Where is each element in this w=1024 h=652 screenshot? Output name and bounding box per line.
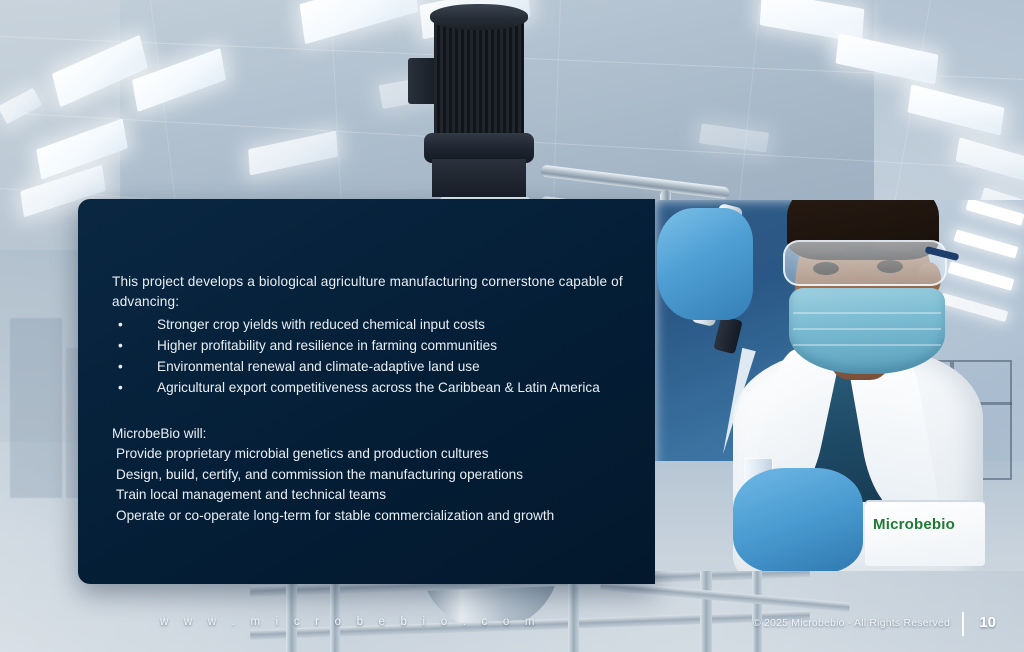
lab-coat-pocket	[865, 500, 985, 566]
gloved-hand-lower	[733, 468, 863, 571]
motor-housing	[434, 18, 524, 138]
pipe	[540, 164, 730, 199]
slide-canvas: This project develops a biological agric…	[0, 0, 1024, 652]
bullet-icon: •	[118, 377, 123, 398]
mask-pleat	[793, 312, 941, 314]
content-panel-body: This project develops a biological agric…	[112, 272, 652, 526]
footer-divider	[962, 612, 964, 636]
support-beam	[600, 581, 850, 612]
mask-pleat	[793, 328, 941, 330]
benefits-bullet-list: • Stronger crop yields with reduced chem…	[112, 314, 652, 398]
copyright-text: © 2025 Microbebio - All Rights Reserved	[753, 617, 950, 629]
list-item: • Agricultural export competitiveness ac…	[112, 377, 652, 398]
list-item-label: Agricultural export competitiveness acro…	[157, 380, 600, 395]
motor-collar-lower	[432, 159, 526, 197]
list-item-label: Environmental renewal and climate-adapti…	[157, 359, 480, 374]
list-item: • Higher profitability and resilience in…	[112, 335, 652, 356]
photo-ceiling-light	[948, 261, 1015, 291]
photo-ceiling-light	[954, 229, 1019, 258]
list-item: Operate or co-operate long-term for stab…	[112, 506, 652, 527]
photo-ceiling-light	[965, 200, 1024, 226]
list-item: Train local management and technical tea…	[112, 485, 652, 506]
background-equipment-silhouette	[10, 318, 62, 498]
mask-pleat	[793, 344, 941, 346]
list-item: • Stronger crop yields with reduced chem…	[112, 314, 652, 335]
commitments-heading: MicrobeBio will:	[112, 424, 652, 444]
bullet-icon: •	[118, 314, 123, 335]
bullet-icon: •	[118, 335, 123, 356]
list-item: Design, build, certify, and commission t…	[112, 465, 652, 486]
page-number: 10	[979, 614, 996, 631]
support-post	[752, 560, 762, 652]
face-mask	[789, 288, 945, 374]
list-item-label: Stronger crop yields with reduced chemic…	[157, 317, 485, 332]
list-item-label: Higher profitability and resilience in f…	[157, 338, 497, 353]
lab-coat-logo: Microbebio	[873, 516, 983, 533]
photo-ceiling-light	[940, 293, 1008, 322]
intro-paragraph: This project develops a biological agric…	[112, 272, 652, 312]
safety-goggles	[783, 240, 947, 286]
list-item: • Environmental renewal and climate-adap…	[112, 356, 652, 377]
list-item: Provide proprietary microbial genetics a…	[112, 444, 652, 465]
motor-cap	[430, 4, 528, 30]
bullet-icon: •	[118, 356, 123, 377]
lab-scientist-photo: Microbebio	[655, 200, 1024, 571]
website-url[interactable]: w w w . m i c r o b e b i o . c o m	[160, 616, 541, 628]
commitments-list: Provide proprietary microbial genetics a…	[112, 444, 652, 526]
gloved-hand-upper	[657, 208, 753, 320]
commitments-section: MicrobeBio will: Provide proprietary mic…	[112, 424, 652, 526]
